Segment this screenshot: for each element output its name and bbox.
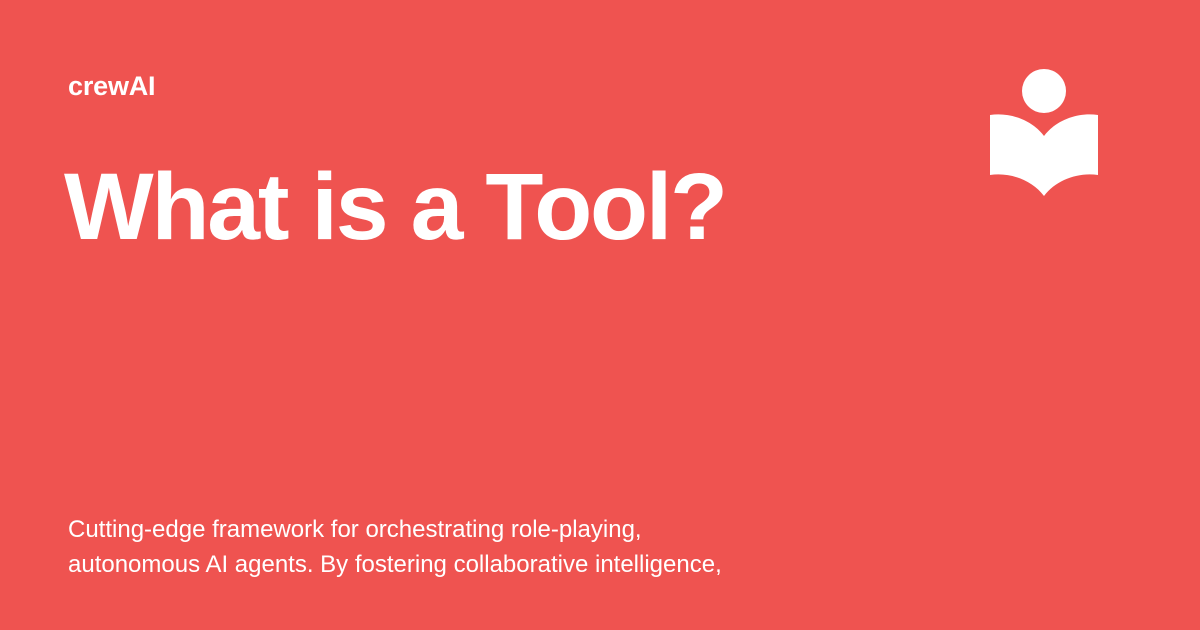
- description-line-1: Cutting-edge framework for orchestrating…: [68, 512, 898, 547]
- open-book-reader-icon: [988, 66, 1100, 198]
- brand-logo-text: crewAI: [68, 70, 155, 102]
- page-title: What is a Tool?: [64, 158, 924, 258]
- page-description: Cutting-edge framework for orchestrating…: [68, 512, 898, 582]
- description-line-2: autonomous AI agents. By fostering colla…: [68, 547, 898, 582]
- og-card: crewAI What is a Tool? Cutting-edge fram…: [0, 0, 1200, 630]
